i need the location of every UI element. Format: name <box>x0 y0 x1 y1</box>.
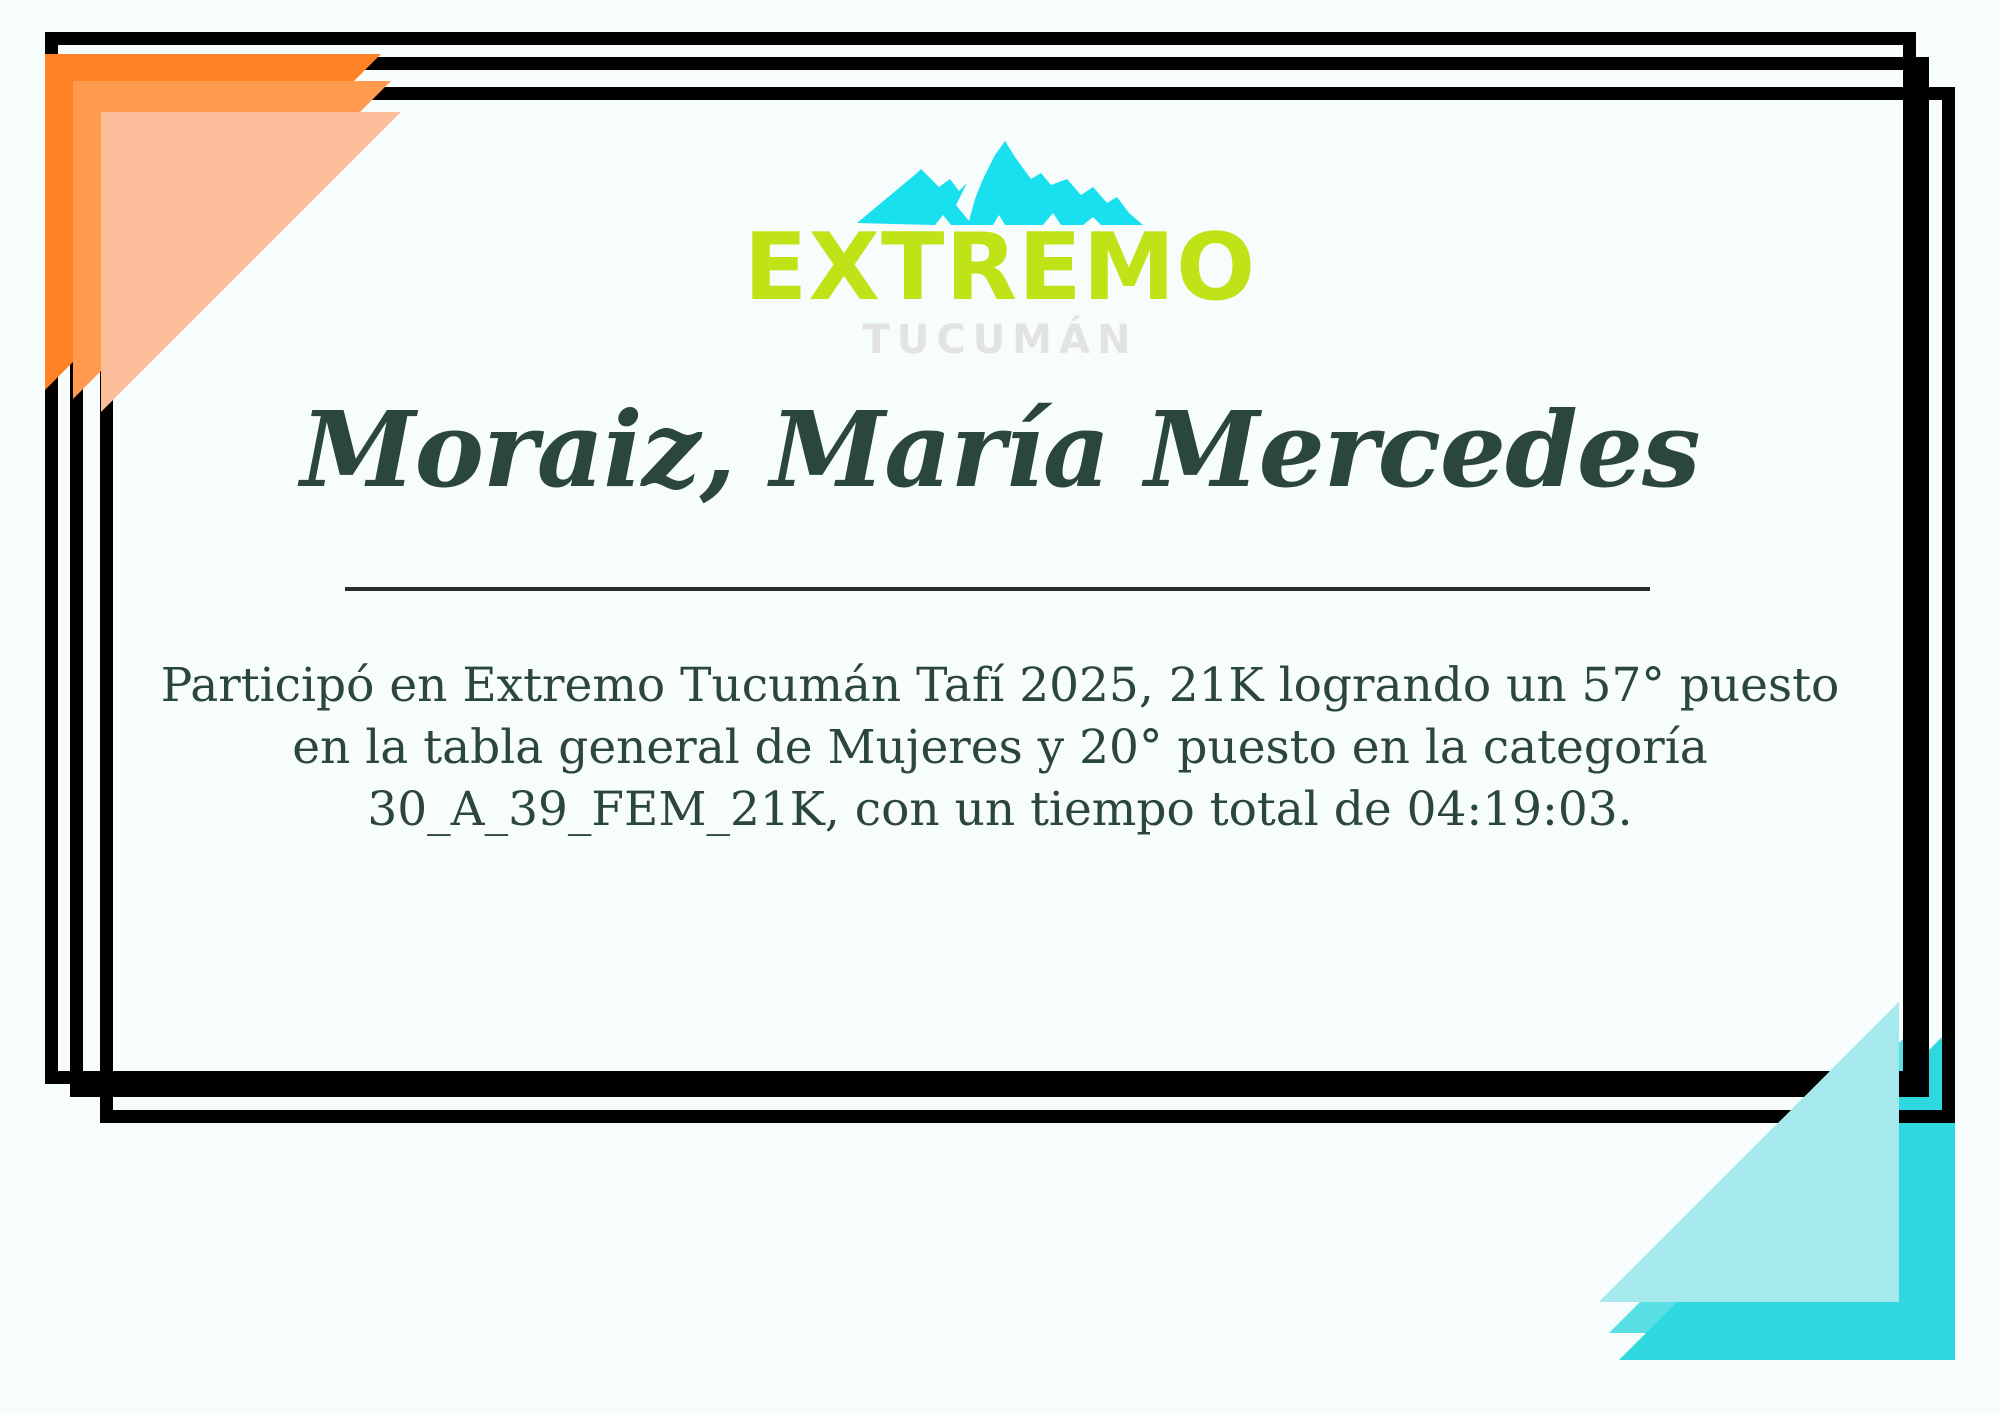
corner-ribbon-bottom-right-outer <box>1599 1002 1899 1302</box>
logo-wordmark: EXTREMO <box>130 221 1870 314</box>
name-underline-rule <box>345 587 1650 591</box>
achievement-line-3: 30_A_39_FEM_21K, con un tiempo total de … <box>140 779 1860 841</box>
event-logo: EXTREMO TUCUMÁN <box>130 135 1870 360</box>
achievement-description: Participó en Extremo Tucumán Tafí 2025, … <box>140 655 1860 841</box>
corner-ribbon-bottom-right-pale <box>1599 1002 1899 1302</box>
certificate: EXTREMO TUCUMÁN Moraiz, María Mercedes P… <box>0 0 2000 1414</box>
corner-ribbon-bottom-right-inner <box>1619 1024 1955 1360</box>
logo-subtitle: TUCUMÁN <box>130 320 1870 360</box>
achievement-line-2: en la tabla general de Mujeres y 20° pue… <box>140 717 1860 779</box>
recipient-name: Moraiz, María Mercedes <box>130 395 1870 504</box>
corner-ribbon-bottom-right-middle <box>1609 1015 1927 1333</box>
certificate-content: EXTREMO TUCUMÁN Moraiz, María Mercedes P… <box>130 110 1870 1010</box>
achievement-line-1: Participó en Extremo Tucumán Tafí 2025, … <box>140 655 1860 717</box>
